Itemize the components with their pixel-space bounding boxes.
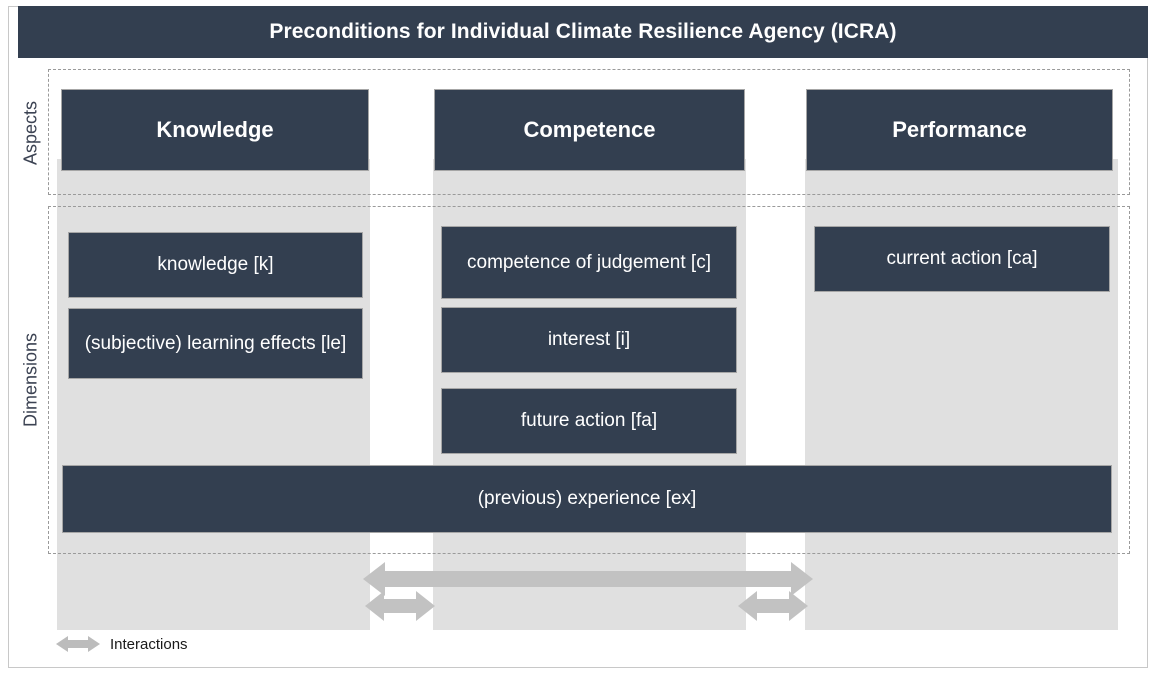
dimension-box-current-action-ca[interactable]: current action [ca] (814, 226, 1110, 292)
aspect-box-competence[interactable]: Competence (434, 89, 745, 171)
dimension-box-previous-experience-ex[interactable]: (previous) experience [ex] (62, 465, 1112, 533)
dimension-box-competence-of-judgement-c[interactable]: competence of judgement [c] (441, 226, 737, 299)
dimension-box-interest-i[interactable]: interest [i] (441, 307, 737, 373)
legend-label: Interactions (110, 636, 188, 653)
double-arrow-icon (56, 634, 100, 654)
diagram-canvas: Preconditions for Individual Climate Res… (0, 0, 1156, 681)
row-label-dimensions: Dimensions (16, 205, 46, 555)
interaction-arrow-competence-performance[interactable] (738, 588, 808, 624)
diagram-title: Preconditions for Individual Climate Res… (18, 6, 1148, 58)
dimension-box-future-action-fa[interactable]: future action [fa] (441, 388, 737, 454)
aspect-box-knowledge[interactable]: Knowledge (61, 89, 369, 171)
legend: Interactions (56, 634, 188, 654)
row-label-aspects: Aspects (16, 70, 46, 195)
interaction-arrow-knowledge-competence[interactable] (365, 588, 435, 624)
aspect-box-performance[interactable]: Performance (806, 89, 1113, 171)
dimension-box-knowledge-k[interactable]: knowledge [k] (68, 232, 363, 298)
dimension-box-learning-effects-le[interactable]: (subjective) learning effects [le] (68, 308, 363, 379)
